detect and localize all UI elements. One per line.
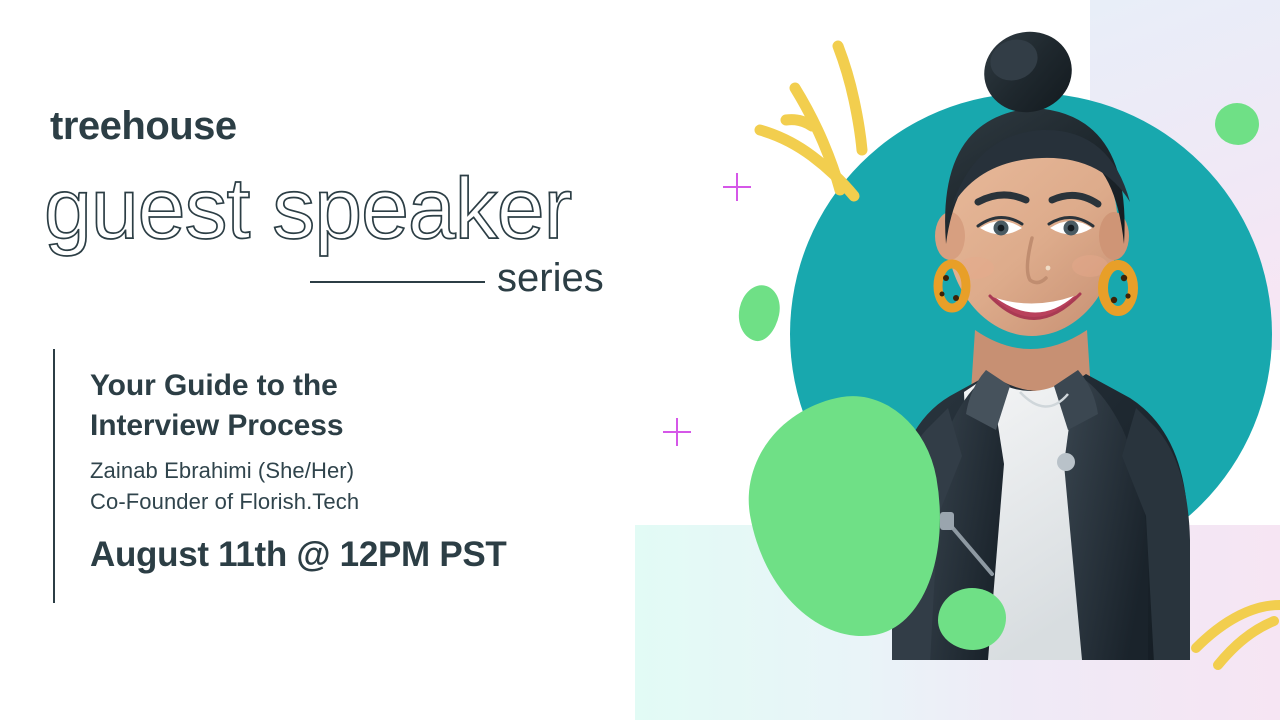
- talk-title-line-2: Interview Process: [90, 406, 630, 446]
- promo-slide: treehouse guest speaker series Your Guid…: [0, 0, 1280, 720]
- detail-divider-rule: [53, 349, 55, 603]
- talk-title-line-1: Your Guide to the: [90, 366, 630, 406]
- green-blob-dot-icon: [938, 588, 1006, 650]
- series-divider-rule: [310, 281, 485, 283]
- speaker-name: Zainab Ebrahimi (She/Her): [90, 455, 630, 486]
- series-label: series: [497, 258, 604, 298]
- event-datetime: August 11th @ 12PM PST: [90, 536, 630, 575]
- svg-text:guest speaker: guest speaker: [44, 161, 572, 257]
- green-blob-small-icon: [734, 281, 785, 344]
- speaker-role: Co-Founder of Florish.Tech: [90, 486, 630, 517]
- plus-icon-middle: [663, 418, 691, 446]
- headline-outline: guest speaker: [44, 160, 664, 260]
- event-details: Your Guide to the Interview Process Zain…: [90, 366, 630, 574]
- brand-wordmark: treehouse: [50, 106, 237, 146]
- talk-title: Your Guide to the Interview Process: [90, 366, 630, 445]
- plus-icon-top: [723, 173, 751, 201]
